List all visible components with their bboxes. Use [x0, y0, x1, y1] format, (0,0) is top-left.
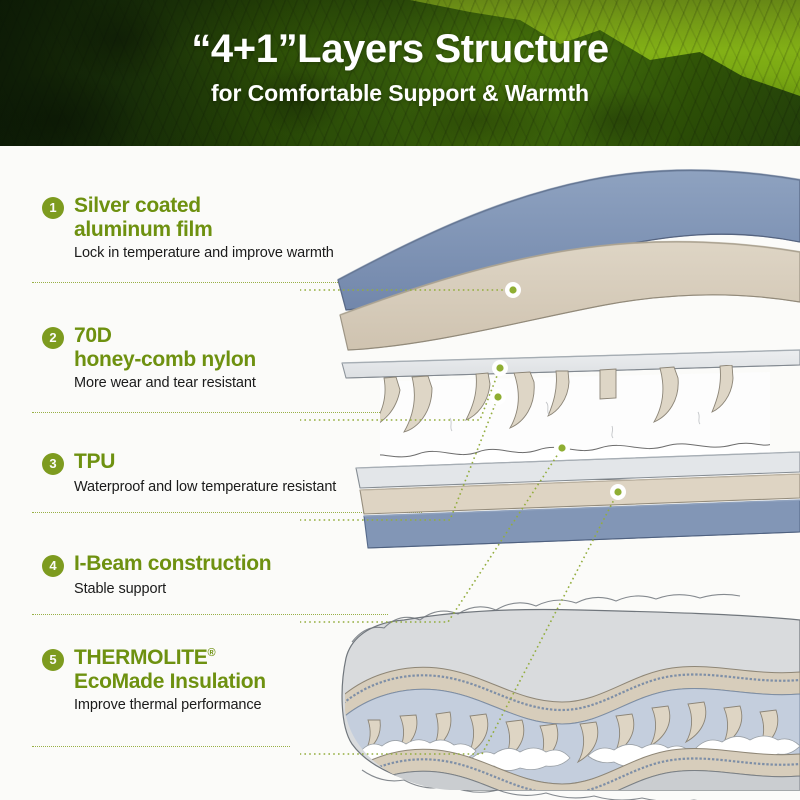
legend-title-line-1: 70D — [74, 324, 256, 348]
leader-line-5 — [32, 746, 290, 747]
endpoint-dot-2 — [496, 364, 503, 371]
legend-title-line-1: I-Beam construction — [74, 552, 271, 576]
legend-title-text: THERMOLITE — [74, 646, 208, 669]
legend-title-line-1: TPU — [74, 450, 115, 474]
legend-number-badge: 4 — [42, 555, 64, 577]
header-text-block: “4+1”Layers Structure for Comfortable Su… — [0, 0, 800, 107]
legend-number-badge: 2 — [42, 327, 64, 349]
legend-title-line-2: honey-comb nylon — [74, 348, 256, 372]
legend-item-title: TPU — [74, 450, 115, 474]
legend-number-badge: 5 — [42, 649, 64, 671]
legend-title-line-2: EcoMade Insulation — [74, 670, 266, 694]
legend-number-badge: 3 — [42, 453, 64, 475]
legend-item-title: 70D honey-comb nylon — [74, 324, 256, 371]
legend-title-line-1: THERMOLITE® — [74, 646, 266, 670]
legend-number-badge: 1 — [42, 197, 64, 219]
legend-item-title: THERMOLITE® EcoMade Insulation — [74, 646, 266, 693]
page-title: “4+1”Layers Structure — [0, 0, 800, 70]
header-banner: “4+1”Layers Structure for Comfortable Su… — [0, 0, 800, 146]
layer-thermolite-ecomade-insulation — [340, 594, 800, 800]
endpoint-dot-3 — [494, 393, 501, 400]
infographic-page: “4+1”Layers Structure for Comfortable Su… — [0, 0, 800, 800]
layer-diagram-illustration — [300, 150, 800, 800]
stacked-base-layers — [356, 452, 800, 548]
endpoint-dot-5 — [614, 488, 621, 495]
legend-title-line-1: Silver coated — [74, 194, 212, 218]
page-subtitle: for Comfortable Support & Warmth — [0, 70, 800, 107]
legend-item-title: Silver coated aluminum film — [74, 194, 212, 241]
endpoint-dot-4 — [558, 444, 565, 451]
legend-title-line-2: aluminum film — [74, 218, 212, 242]
registered-trademark-icon: ® — [208, 647, 216, 659]
legend-item-title: I-Beam construction — [74, 552, 271, 576]
endpoint-dot-1 — [509, 286, 516, 293]
